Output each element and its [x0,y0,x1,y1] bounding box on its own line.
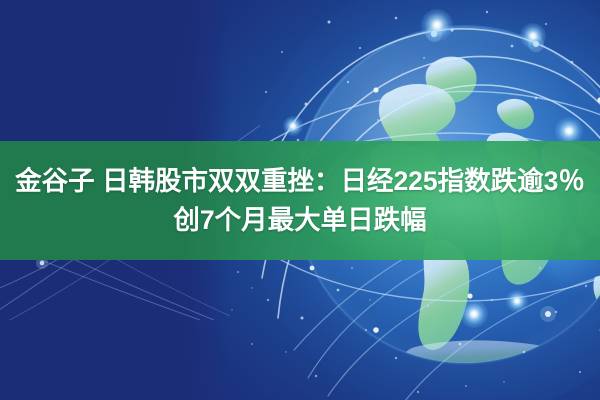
flare-node-left [283,116,303,136]
flare-node-bottom [460,300,488,328]
flare-node-bottom-right [506,290,528,312]
news-banner-image: 金谷子 日韩股市双双重挫：日经225指数跌逾3％ 创7个月最大单日跌幅 [0,0,600,400]
headline-text-block: 金谷子 日韩股市双双重挫：日经225指数跌逾3％ 创7个月最大单日跌幅 [0,141,600,260]
flare-node-top [421,9,453,41]
headline-line-2: 创7个月最大单日跌幅 [173,202,426,238]
flare-node-top-right [520,23,546,49]
headline-line-1: 金谷子 日韩股市双双重挫：日经225指数跌逾3％ [15,163,585,199]
